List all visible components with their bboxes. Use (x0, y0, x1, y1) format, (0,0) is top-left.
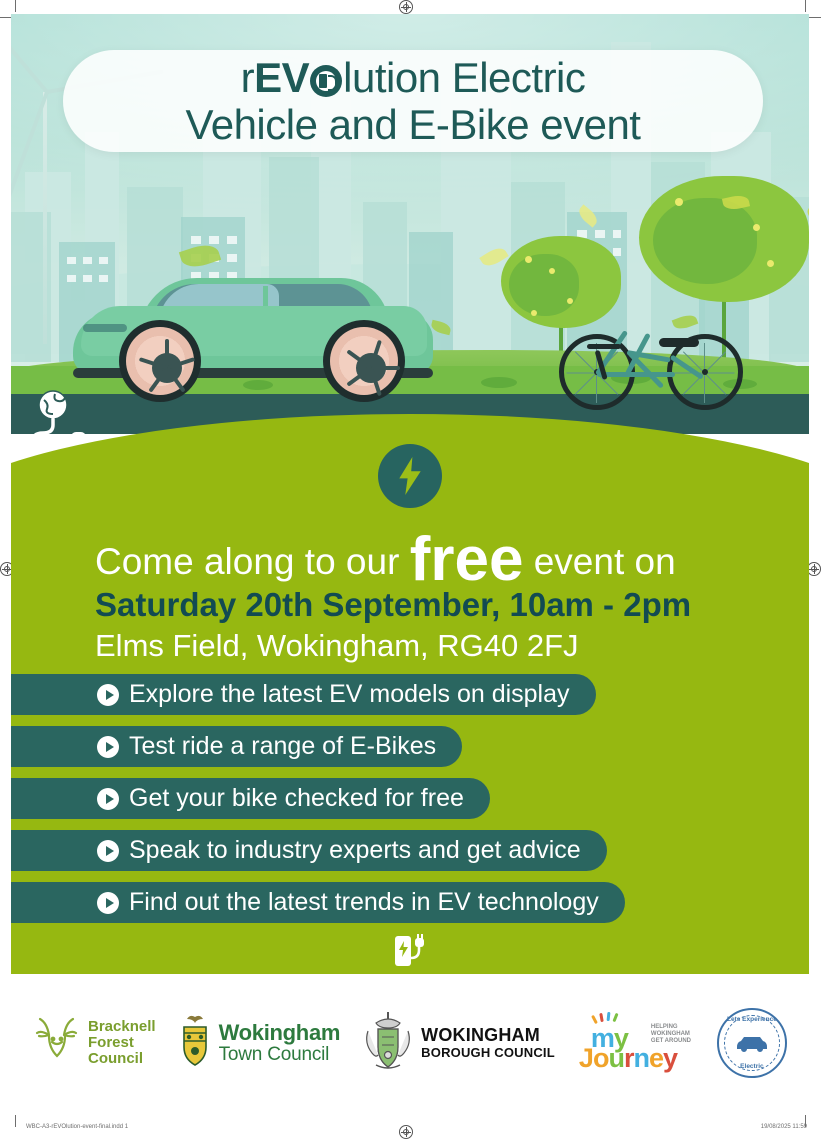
logo-caption-top: Lets Experience (719, 1016, 785, 1023)
bike-spoke (704, 373, 705, 403)
title-ev-bold: EV (254, 54, 309, 101)
car-wheel (323, 320, 405, 402)
bike-seat (659, 338, 699, 347)
poster-page: rEVlution Electric Vehicle and E-Bike ev… (0, 0, 821, 1141)
play-bullet-icon (97, 788, 119, 810)
logo-line-1: WOKINGHAM (421, 1026, 555, 1045)
feature-label: Speak to industry experts and get advice (129, 836, 581, 865)
bike-spoke (704, 343, 705, 373)
car-spoke (371, 366, 400, 370)
poster-title-card: rEVlution Electric Vehicle and E-Bike ev… (63, 50, 763, 152)
ev-charge-circle-icon (310, 65, 342, 97)
spark-icon (599, 1013, 604, 1022)
mj-tagline: HELPING WOKINGHAM GET AROUND (651, 1024, 691, 1045)
bike-spoke (704, 373, 726, 395)
feature-label: Find out the latest trends in EV technol… (129, 888, 599, 917)
spark-icon (612, 1013, 618, 1022)
car-spoke (165, 339, 169, 368)
car-rim (330, 327, 398, 395)
tree-dot (531, 310, 537, 316)
logo-text: Wokingham Town Council (219, 1021, 341, 1065)
feature-list: Explore the latest EV models on display … (11, 674, 809, 934)
coat-of-arms-icon (178, 1013, 212, 1074)
logo-line-3: Council (88, 1051, 156, 1067)
tree-dot (753, 224, 760, 231)
play-bullet-icon (97, 840, 119, 862)
window (99, 257, 108, 264)
hero-illustration: rEVlution Electric Vehicle and E-Bike ev… (11, 14, 809, 434)
turbine-mast (43, 92, 47, 344)
bike-spoke (567, 373, 597, 374)
print-timestamp: 19/08/2025 11:59 (761, 1124, 807, 1130)
tree-crown (653, 198, 757, 284)
window (191, 236, 201, 244)
ev-car-illustration (73, 272, 433, 402)
bike-handlebar (587, 344, 621, 349)
logo-bracknell-forest-council: Bracknell Forest Council (33, 1015, 156, 1072)
bike-spoke (575, 351, 597, 373)
print-footer: WBC-A3-rEVOlution-event-final.indd 1 19/… (0, 1119, 821, 1141)
lightning-bolt-icon (378, 444, 442, 508)
artboard: rEVlution Electric Vehicle and E-Bike ev… (11, 14, 809, 1112)
title-line-1: rEVlution Electric (241, 54, 586, 101)
bike-spoke (575, 373, 597, 395)
coat-of-arms-icon (362, 1009, 414, 1078)
logo-line-2: Forest (88, 1035, 156, 1051)
registration-mark-top (399, 0, 413, 14)
event-copy: Come along to our free event on Saturday… (95, 534, 795, 666)
title-post: lution Electric (343, 54, 585, 101)
registration-mark-right (807, 562, 821, 576)
car-headlight-icon (83, 324, 127, 332)
window (227, 254, 237, 262)
partner-logo-bar: Bracknell Forest Council (11, 974, 809, 1112)
logo-my-journey: my HELPING WOKINGHAM GET AROUND Journey (577, 1015, 695, 1071)
event-details-section: Come along to our free event on Saturday… (11, 414, 809, 974)
logo-text: Bracknell Forest Council (88, 1019, 156, 1068)
bike-spoke (596, 373, 597, 403)
feature-label: Get your bike checked for free (129, 784, 464, 813)
logo-lets-experience-electric: Lets Experience Electric (717, 1008, 787, 1078)
feature-item: Find out the latest trends in EV technol… (11, 882, 625, 923)
tree-crown (509, 254, 579, 316)
window (83, 257, 92, 264)
event-line-1b: event on (523, 541, 675, 582)
print-filename: WBC-A3-rEVOlution-event-final.indd 1 (26, 1124, 128, 1130)
title-line-2: Vehicle and E-Bike event (186, 101, 641, 148)
ev-charging-station-icon (394, 932, 426, 966)
bike-spoke (705, 373, 735, 374)
crop-mark-tr-h (809, 17, 821, 18)
bicycle-illustration (559, 314, 744, 410)
logo-line-1: Wokingham (219, 1021, 341, 1045)
logo-wokingham-town-council: Wokingham Town Council (178, 1013, 341, 1074)
tree-dot (567, 298, 573, 304)
event-location: Elms Field, Wokingham, RG40 2FJ (95, 626, 795, 666)
crop-mark-tl-v (15, 0, 16, 12)
poster-title: rEVlution Electric Vehicle and E-Bike ev… (63, 50, 763, 152)
spark-icon (606, 1012, 610, 1021)
logo-line-1: Bracknell (88, 1019, 156, 1035)
logo-wokingham-borough-council: WOKINGHAM BOROUGH COUNCIL (362, 1009, 555, 1078)
event-line-1: Come along to our free event on (95, 534, 795, 586)
event-line-1a: Come along to our (95, 541, 410, 582)
window (227, 236, 237, 244)
tree-dot (549, 268, 555, 274)
grass-blob (481, 377, 517, 388)
play-bullet-icon (97, 892, 119, 914)
car-rim (126, 327, 194, 395)
play-bullet-icon (97, 684, 119, 706)
stag-head-icon (33, 1015, 81, 1072)
logo-line-2: BOROUGH COUNCIL (421, 1046, 555, 1060)
bike-spoke (704, 351, 726, 373)
tree-dot (675, 198, 683, 206)
title-pre: r (241, 54, 255, 101)
tree-dot (525, 256, 532, 263)
play-bullet-icon (97, 736, 119, 758)
logo-line-2: Town Council (219, 1045, 341, 1066)
window (209, 236, 219, 244)
mj-journey: Journey (579, 1043, 677, 1074)
event-date-time: Saturday 20th September, 10am - 2pm (95, 584, 795, 626)
feature-item: Explore the latest EV models on display (11, 674, 596, 715)
logo-caption-bottom: Electric (719, 1063, 785, 1070)
feature-label: Explore the latest EV models on display (129, 680, 570, 709)
bike-frame (597, 372, 675, 377)
feature-item: Get your bike checked for free (11, 778, 490, 819)
feature-item: Speak to industry experts and get advice (11, 830, 607, 871)
mj-tag-2: WOKINGHAM (651, 1031, 690, 1037)
logo-text: WOKINGHAM BOROUGH COUNCIL (421, 1026, 555, 1059)
crop-mark-tr-v (805, 0, 806, 12)
mj-tag-1: HELPING (651, 1024, 678, 1030)
feature-label: Test ride a range of E-Bikes (129, 732, 436, 761)
car-wheel (119, 320, 201, 402)
tree-dot (767, 260, 774, 267)
feature-item: Test ride a range of E-Bikes (11, 726, 462, 767)
